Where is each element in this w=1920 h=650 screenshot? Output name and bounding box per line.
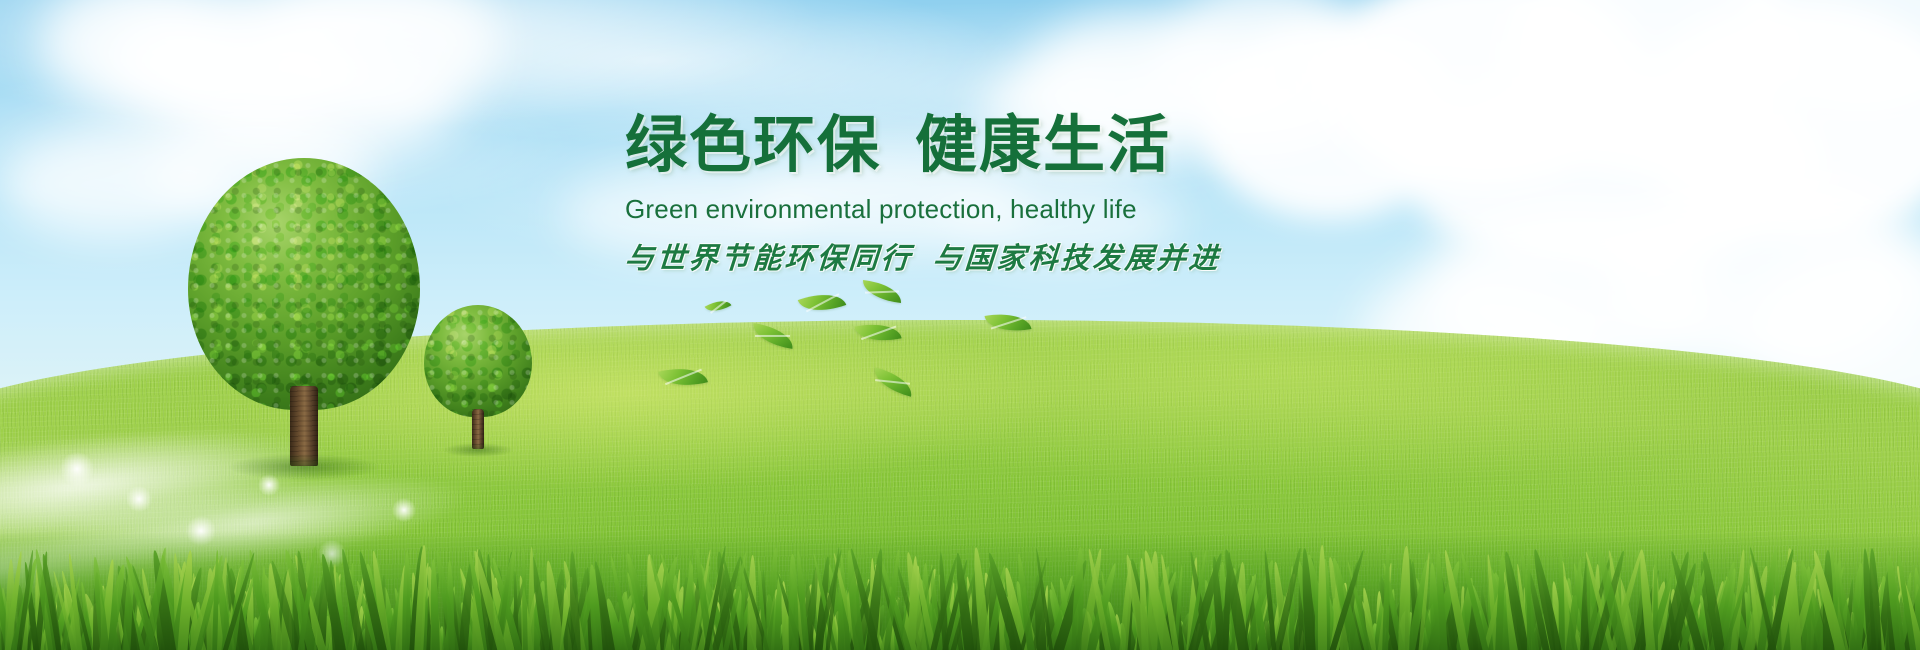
eco-banner: 绿色环保健康生活 Green environmental protection,… (0, 0, 1920, 650)
canopy-leaf-detail (188, 158, 420, 410)
tagline-chinese: 与世界节能环保同行与国家科技发展并进 (624, 235, 1327, 277)
foreground-grass (0, 532, 1920, 650)
headline: 绿色环保健康生活 (625, 112, 1325, 178)
tree-ground-shadow (443, 443, 513, 457)
grass-blade (1527, 547, 1531, 650)
tagline-part2: 与国家科技发展并进 (932, 241, 1222, 275)
subtitle-english: Green environmental protection, healthy … (625, 194, 1325, 225)
headline-part1: 绿色环保 (625, 108, 881, 181)
canopy-leaf-detail (424, 305, 532, 417)
small-tree (424, 305, 532, 445)
headline-part2: 健康生活 (915, 108, 1171, 181)
tree-canopy (424, 305, 532, 417)
large-tree (188, 158, 420, 458)
tree-canopy (188, 158, 420, 410)
tree-ground-shadow (229, 454, 379, 480)
tagline-part1: 与世界节能环保同行 (624, 241, 914, 275)
banner-text-block: 绿色环保健康生活 Green environmental protection,… (625, 112, 1325, 277)
